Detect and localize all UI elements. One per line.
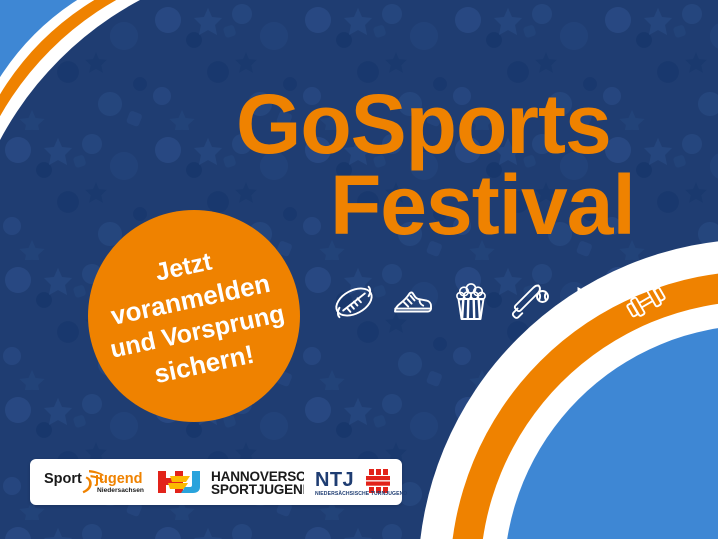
logo-hannoversche-sportjugend[interactable]: HANNOVERSCHE SPORTJUGEND [152,459,310,505]
cta-badge[interactable]: Jetzt voranmelden und Vorsprung sichern! [88,210,300,422]
hsj-mark [158,471,200,493]
dumbbell-icon [622,278,670,326]
headline-line-2: Festival [330,165,716,246]
sportjugend-word-1: Sport [44,471,82,487]
sports-icon-row [330,276,670,328]
sportjugend-logo-svg: Sport jugend Niedersachsen [42,465,146,499]
football-icon [330,278,378,326]
ntj-subtitle: NIEDERSÄCHSISCHE TURNJUGEND [315,490,407,497]
ntj-mark: NTJ [315,469,354,491]
baseball-bat-icon [505,278,553,326]
sneaker-icon [388,278,436,326]
ntj-logo-svg: NTJ NIEDERSÄCHSISCHE TURNJUGEND [314,465,412,499]
logo-ntj[interactable]: NTJ NIEDERSÄCHSISCHE TURNJUGEND [310,459,420,505]
headline-line-1: GoSports [236,84,716,165]
logo-sportjugend-niedersachsen[interactable]: Sport jugend Niedersachsen [30,459,152,505]
sportjugend-subtitle: Niedersachsen [97,487,144,494]
hsj-logo-svg: HANNOVERSCHE SPORTJUGEND [156,465,304,499]
ntj-emblem [366,469,390,493]
poster-headline: GoSports Festival [236,84,716,245]
hsj-text-line-2: SPORTJUGEND [211,482,304,497]
partner-logo-bar: Sport jugend Niedersachsen [30,459,402,505]
popcorn-icon [447,278,495,326]
poster-canvas: GoSports Festival Jetzt voranmelden und … [0,0,718,539]
music-notes-icon [564,278,612,326]
sportjugend-word-2: jugend [94,471,143,487]
cta-badge-text: Jetzt voranmelden und Vorsprung sichern! [82,230,305,401]
